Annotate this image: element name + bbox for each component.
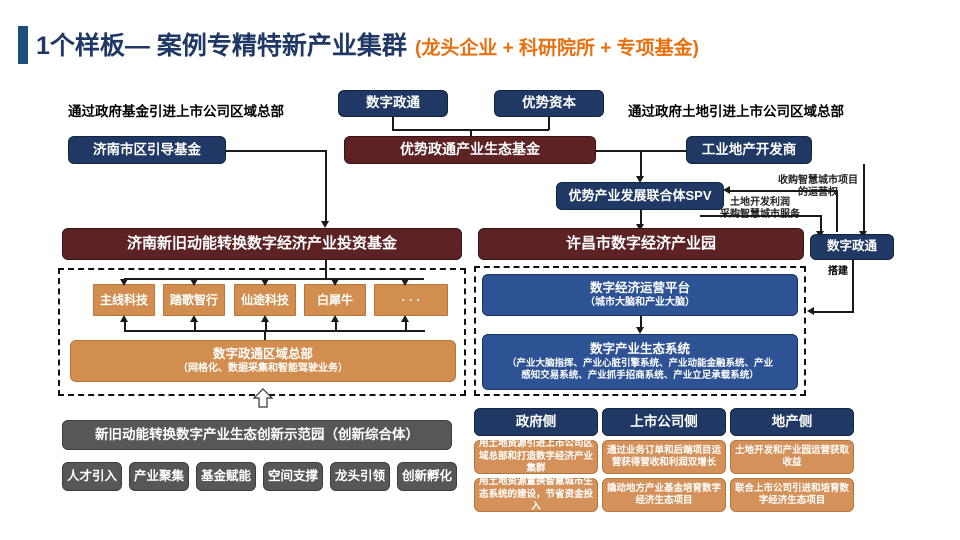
benefit-table-cell[interactable]: 土地开发和产业园运营获取收益 (730, 440, 854, 474)
benefit-header-label: 政府侧 (516, 414, 557, 431)
pillar-chip-label: 空间支撑 (268, 469, 318, 485)
connector-line (700, 215, 820, 217)
arrow-down-icon (261, 279, 269, 286)
connector-line (812, 311, 854, 313)
connector-line (852, 260, 854, 312)
node-shuzi-zhengtong-top[interactable]: 数字政通 (338, 90, 448, 117)
connector-line (194, 322, 196, 331)
connector-line (226, 150, 326, 152)
connector-line (124, 278, 424, 280)
arrow-down-icon (190, 279, 198, 286)
page-subtitle: (龙头企业 + 科研院所 + 专项基金) (415, 34, 699, 64)
eco-system-line3: 感知交易系统、产业抓手招商系统、产业立足承载系统） (521, 370, 759, 382)
node-industrial-developer[interactable]: 工业地产开发商 (686, 136, 812, 164)
company-chip-label: · · · (402, 293, 421, 308)
pillar-chip-label: 人才引入 (67, 469, 117, 485)
node-spv[interactable]: 优势产业发展联合体SPV (556, 182, 724, 210)
node-jinan-invest-fund[interactable]: 济南新旧动能转换数字经济产业投资基金 (62, 228, 462, 260)
node-demo-park[interactable]: 新旧动能转换数字产业生态创新示范园（创新综合体） (62, 420, 452, 450)
connector-line (640, 150, 642, 177)
benefit-table-header[interactable]: 地产侧 (730, 408, 854, 436)
regional-hq-line1: 数字政通区域总部 (213, 347, 313, 363)
title-accent-bar (18, 26, 28, 64)
pillar-chip-label: 龙头引领 (335, 469, 385, 485)
connector-line (325, 150, 327, 222)
company-chip-label: 仙途科技 (241, 293, 289, 308)
annotation-left-header: 通过政府基金引进上市公司区域总部 (68, 100, 284, 120)
pillar-chip[interactable]: 人才引入 (62, 462, 122, 491)
node-jinan-guide-fund[interactable]: 济南市区引导基金 (68, 136, 226, 164)
benefit-table-header[interactable]: 政府侧 (474, 408, 598, 436)
benefit-cell-text: 撬动地方产业基金培育数字经济生态项目 (607, 483, 721, 508)
company-chip[interactable]: 主线科技 (93, 284, 155, 316)
eco-system-line2: （产业大脑指挥、产业心脏引擎系统、产业动能金融系统、产业 (507, 358, 773, 370)
connector-line (325, 260, 327, 279)
connector-line (124, 322, 126, 331)
hollow-up-arrow-icon (252, 388, 274, 408)
company-chip[interactable]: 仙途科技 (234, 284, 296, 316)
arrow-down-icon (636, 327, 644, 334)
benefit-header-label: 地产侧 (772, 414, 813, 431)
pillar-chip-label: 产业聚集 (134, 469, 184, 485)
connector-line (820, 215, 822, 232)
node-eco-fund[interactable]: 优势政通产业生态基金 (344, 136, 596, 164)
digital-platform-line1: 数字经济运营平台 (590, 281, 690, 297)
node-shuzi-zhengtong-right[interactable]: 数字政通 (810, 234, 894, 260)
arrow-up-icon (331, 315, 339, 322)
benefit-table-cell[interactable]: 撬动地方产业基金培育数字经济生态项目 (602, 478, 726, 512)
annotation-right-header: 通过政府土地引进上市公司区域总部 (628, 100, 844, 120)
company-chip[interactable]: · · · (374, 284, 448, 316)
company-chip[interactable]: 白犀牛 (304, 284, 366, 316)
page-title: 1个样板— 案例专精特新产业集群 (36, 28, 407, 64)
pillar-chip-label: 基金赋能 (201, 469, 251, 485)
connector-line (548, 117, 550, 130)
connector-line (264, 330, 266, 340)
annotation-build: 搭建 (828, 262, 848, 277)
company-chip[interactable]: 踏歌智行 (163, 284, 225, 316)
node-youshi-ziben[interactable]: 优势资本 (494, 90, 604, 117)
benefit-cell-text: 用土地资源引进上市公司区域总部和打造数字经济产业集群 (479, 438, 593, 475)
connector-line (335, 322, 337, 331)
benefit-table-cell[interactable]: 联合上市公司引进和培育数字经济生态项目 (730, 478, 854, 512)
arrow-down-icon (401, 279, 409, 286)
benefit-table-cell[interactable]: 用土地资源引进上市公司区域总部和打造数字经济产业集群 (474, 440, 598, 474)
arrow-up-icon (190, 315, 198, 322)
node-xuchang-park[interactable]: 许昌市数字经济产业园 (478, 228, 804, 260)
eco-system-line1: 数字产业生态系统 (590, 342, 690, 358)
connector-line (728, 190, 838, 192)
arrow-left-icon (723, 186, 730, 194)
connector-line (640, 210, 642, 225)
node-digital-platform[interactable]: 数字经济运营平台 （城市大脑和产业大脑） (482, 274, 798, 316)
pillar-chip[interactable]: 基金赋能 (196, 462, 256, 491)
connector-line (124, 330, 425, 332)
arrow-left-icon (807, 307, 814, 315)
node-eco-system[interactable]: 数字产业生态系统 （产业大脑指挥、产业心脏引擎系统、产业动能金融系统、产业 感知… (482, 334, 798, 390)
arrow-down-icon (321, 221, 329, 228)
company-chip-label: 白犀牛 (317, 293, 353, 308)
connector-line (405, 322, 407, 331)
regional-hq-line2: （网格化、数据采集和智能驾驶业务） (178, 363, 348, 376)
pillar-chip-label: 创新孵化 (402, 469, 452, 485)
pillar-chip[interactable]: 空间支撑 (263, 462, 323, 491)
digital-platform-line2: （城市大脑和产业大脑） (585, 297, 695, 310)
benefit-table-header[interactable]: 上市公司侧 (602, 408, 726, 436)
pillar-chip[interactable]: 龙头引领 (330, 462, 390, 491)
arrow-up-icon (401, 315, 409, 322)
node-regional-hq[interactable]: 数字政通区域总部 （网格化、数据采集和智能驾驶业务） (70, 340, 456, 382)
benefit-header-label: 上市公司侧 (630, 414, 698, 431)
pillar-chip[interactable]: 创新孵化 (397, 462, 457, 491)
arrow-down-icon (331, 279, 339, 286)
company-chip-label: 主线科技 (100, 293, 148, 308)
arrow-up-icon (261, 315, 269, 322)
company-chip-label: 踏歌智行 (170, 293, 218, 308)
arrow-up-icon (120, 315, 128, 322)
benefit-cell-text: 用土地资源置换智慧城市生态系统的建设，节省资金投入 (479, 476, 593, 513)
arrow-down-icon (120, 279, 128, 286)
connector-line (836, 190, 838, 232)
benefit-cell-text: 土地开发和产业园运营获取收益 (735, 445, 849, 470)
benefit-cell-text: 联合上市公司引进和培育数字经济生态项目 (735, 483, 849, 508)
slide-canvas: 1个样板— 案例专精特新产业集群 (龙头企业 + 科研院所 + 专项基金) 通过… (0, 0, 960, 540)
benefit-table-cell[interactable]: 用土地资源置换智慧城市生态系统的建设，节省资金投入 (474, 478, 598, 512)
benefit-table-cell[interactable]: 通过业务订单和后端项目运营获得营收和利润双增长 (602, 440, 726, 474)
benefit-cell-text: 通过业务订单和后端项目运营获得营收和利润双增长 (607, 445, 721, 470)
pillar-chip[interactable]: 产业聚集 (129, 462, 189, 491)
